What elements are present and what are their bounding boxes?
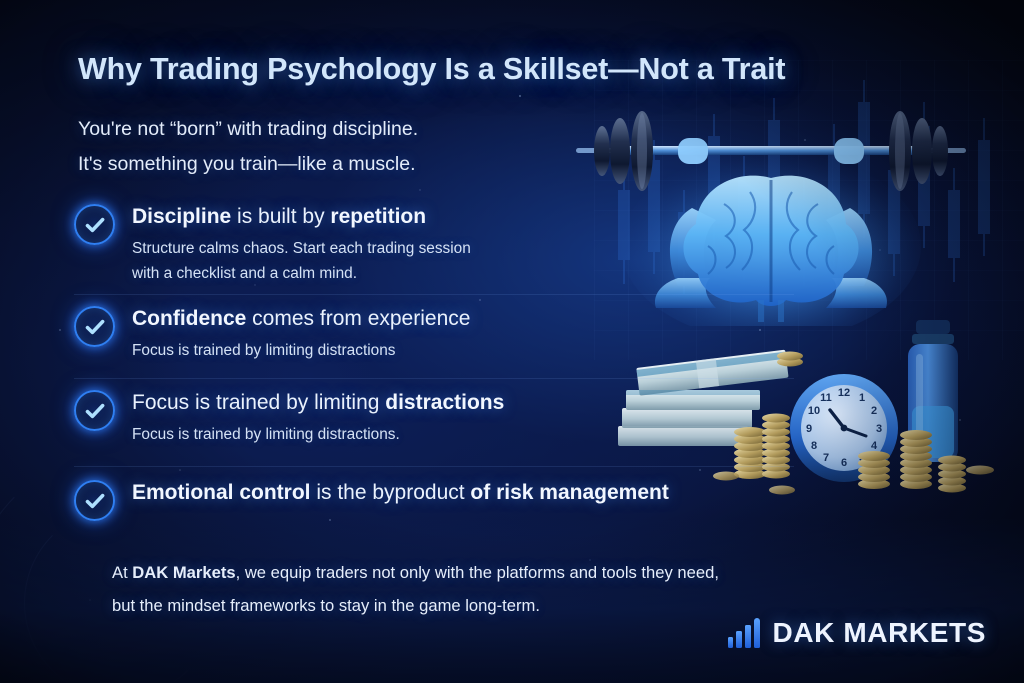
list-item-description: Focus is trained by limiting distraction… bbox=[132, 422, 504, 447]
list-item-heading: Emotional control is the byproduct of ri… bbox=[132, 481, 669, 505]
list-item-text: Discipline is built by repetition Struct… bbox=[132, 204, 471, 286]
list-item[interactable]: Focus is trained by limiting distraction… bbox=[74, 378, 794, 466]
heading-strong-lead: Confidence bbox=[132, 307, 246, 330]
heading-strong-tail: of risk management bbox=[470, 481, 668, 504]
infographic-canvas: 1212 345 678 91011 bbox=[0, 0, 1024, 683]
list-item[interactable]: Confidence comes from experience Focus i… bbox=[74, 294, 794, 378]
heading-light: Focus is trained by limiting bbox=[132, 391, 385, 414]
svg-text:4: 4 bbox=[871, 440, 878, 452]
list-item-heading: Focus is trained by limiting distraction… bbox=[132, 391, 504, 415]
svg-text:7: 7 bbox=[823, 452, 829, 464]
list-item-heading: Discipline is built by repetition bbox=[132, 205, 471, 229]
svg-text:8: 8 bbox=[811, 440, 817, 452]
heading-strong-lead: Emotional control bbox=[132, 481, 311, 504]
svg-text:12: 12 bbox=[838, 387, 850, 399]
footer-copy: At DAK Markets, we equip traders not onl… bbox=[112, 556, 719, 622]
heading-light: is the byproduct bbox=[311, 481, 471, 504]
svg-text:2: 2 bbox=[871, 405, 877, 417]
svg-text:6: 6 bbox=[841, 457, 847, 469]
svg-text:9: 9 bbox=[806, 423, 812, 435]
logo[interactable]: DAK MARKETS bbox=[728, 617, 986, 649]
subtitle: You're not “born” with trading disciplin… bbox=[78, 112, 418, 182]
benefit-list: Discipline is built by repetition Struct… bbox=[74, 196, 794, 536]
svg-text:3: 3 bbox=[876, 423, 882, 435]
list-item[interactable]: Emotional control is the byproduct of ri… bbox=[74, 466, 794, 536]
svg-text:5: 5 bbox=[859, 452, 865, 464]
subtitle-line-2: It's something you train—like a muscle. bbox=[78, 147, 418, 182]
svg-text:1: 1 bbox=[859, 392, 865, 404]
heading-strong-tail: distractions bbox=[385, 391, 504, 414]
footer-suffix: , we equip traders not only with the pla… bbox=[236, 563, 719, 582]
list-item-description: Structure calms chaos. Start each tradin… bbox=[132, 236, 471, 286]
brand-name: DAK Markets bbox=[132, 563, 235, 582]
footer-line-1: At DAK Markets, we equip traders not onl… bbox=[112, 556, 719, 589]
heading-strong-lead: Discipline bbox=[132, 205, 231, 228]
list-item-text: Emotional control is the byproduct of ri… bbox=[132, 480, 669, 505]
description-line-1: Focus is trained by limiting distraction… bbox=[132, 422, 504, 447]
svg-text:11: 11 bbox=[820, 392, 832, 404]
description-line-1: Structure calms chaos. Start each tradin… bbox=[132, 236, 471, 261]
list-item[interactable]: Discipline is built by repetition Struct… bbox=[74, 196, 794, 294]
list-item-text: Confidence comes from experience Focus i… bbox=[132, 306, 470, 363]
check-circle-icon bbox=[74, 390, 115, 431]
bar-chart-logo-icon bbox=[728, 618, 760, 648]
description-line-2: with a checklist and a calm mind. bbox=[132, 261, 471, 286]
logo-text: DAK MARKETS bbox=[773, 617, 986, 649]
list-item-text: Focus is trained by limiting distraction… bbox=[132, 390, 504, 447]
heading-light: comes from experience bbox=[246, 307, 470, 330]
list-item-heading: Confidence comes from experience bbox=[132, 307, 470, 331]
check-circle-icon bbox=[74, 480, 115, 521]
subtitle-line-1: You're not “born” with trading disciplin… bbox=[78, 112, 418, 147]
description-line-1: Focus is trained by limiting distraction… bbox=[132, 338, 470, 363]
footer-line-2: but the mindset frameworks to stay in th… bbox=[112, 589, 719, 622]
list-item-description: Focus is trained by limiting distraction… bbox=[132, 338, 470, 363]
svg-text:10: 10 bbox=[808, 405, 820, 417]
heading-light: is built by bbox=[231, 205, 330, 228]
footer-prefix: At bbox=[112, 563, 132, 582]
check-circle-icon bbox=[74, 204, 115, 245]
check-circle-icon bbox=[74, 306, 115, 347]
heading-strong-tail: repetition bbox=[330, 205, 426, 228]
page-title: Why Trading Psychology Is a Skillset—Not… bbox=[78, 52, 785, 87]
